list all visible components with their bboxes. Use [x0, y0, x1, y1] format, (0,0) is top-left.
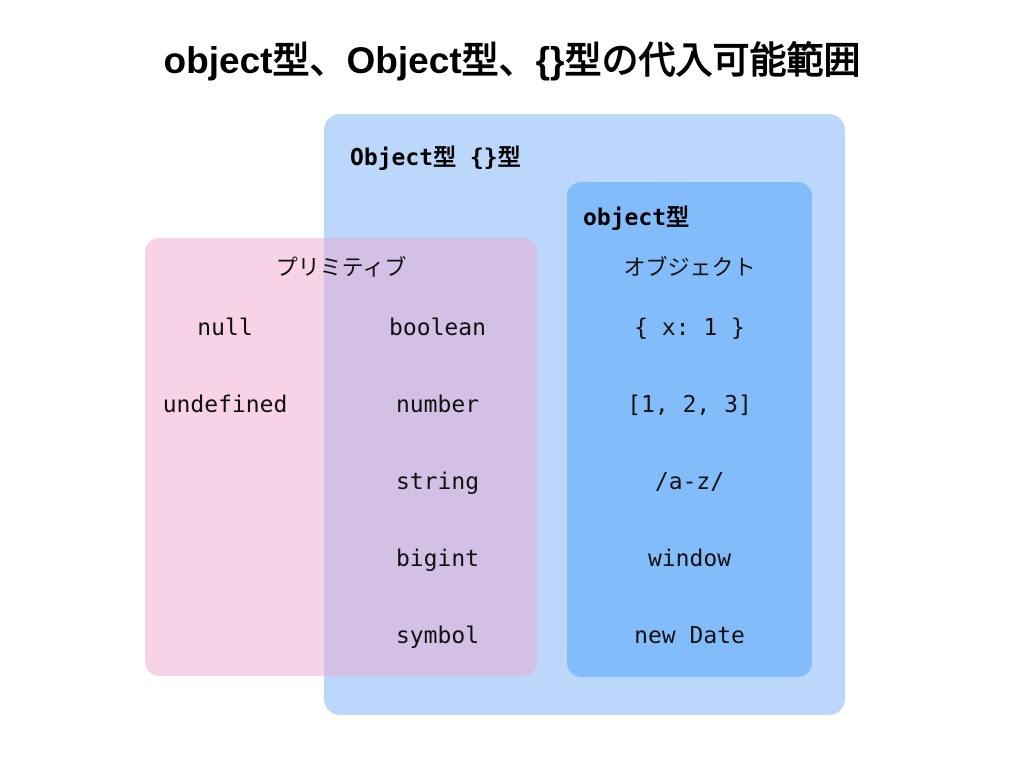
- object-region-label: object型: [583, 198, 689, 232]
- primitive-only-item: null: [145, 315, 305, 341]
- object-item: new Date: [567, 623, 812, 649]
- overlap-item: boolean: [330, 315, 545, 341]
- object-item: /a-z/: [567, 469, 812, 495]
- overlap-item: number: [330, 392, 545, 418]
- primitive-column-heading: プリミティブ: [145, 250, 537, 282]
- diagram-root: object型、Object型、{}型の代入可能範囲 Object型 {}型 o…: [0, 0, 1024, 768]
- overlap-item: bigint: [330, 546, 545, 572]
- primitive-only-item: undefined: [145, 392, 305, 418]
- overlap-item: string: [330, 469, 545, 495]
- page-title: object型、Object型、{}型の代入可能範囲: [0, 40, 1024, 83]
- primitive-region: [145, 238, 537, 676]
- object-wrapper-region-label: Object型 {}型: [350, 138, 521, 172]
- overlap-item: symbol: [330, 623, 545, 649]
- object-item: window: [567, 546, 812, 572]
- object-item: [1, 2, 3]: [567, 392, 812, 418]
- object-item: { x: 1 }: [567, 315, 812, 341]
- object-column-heading: オブジェクト: [567, 250, 812, 282]
